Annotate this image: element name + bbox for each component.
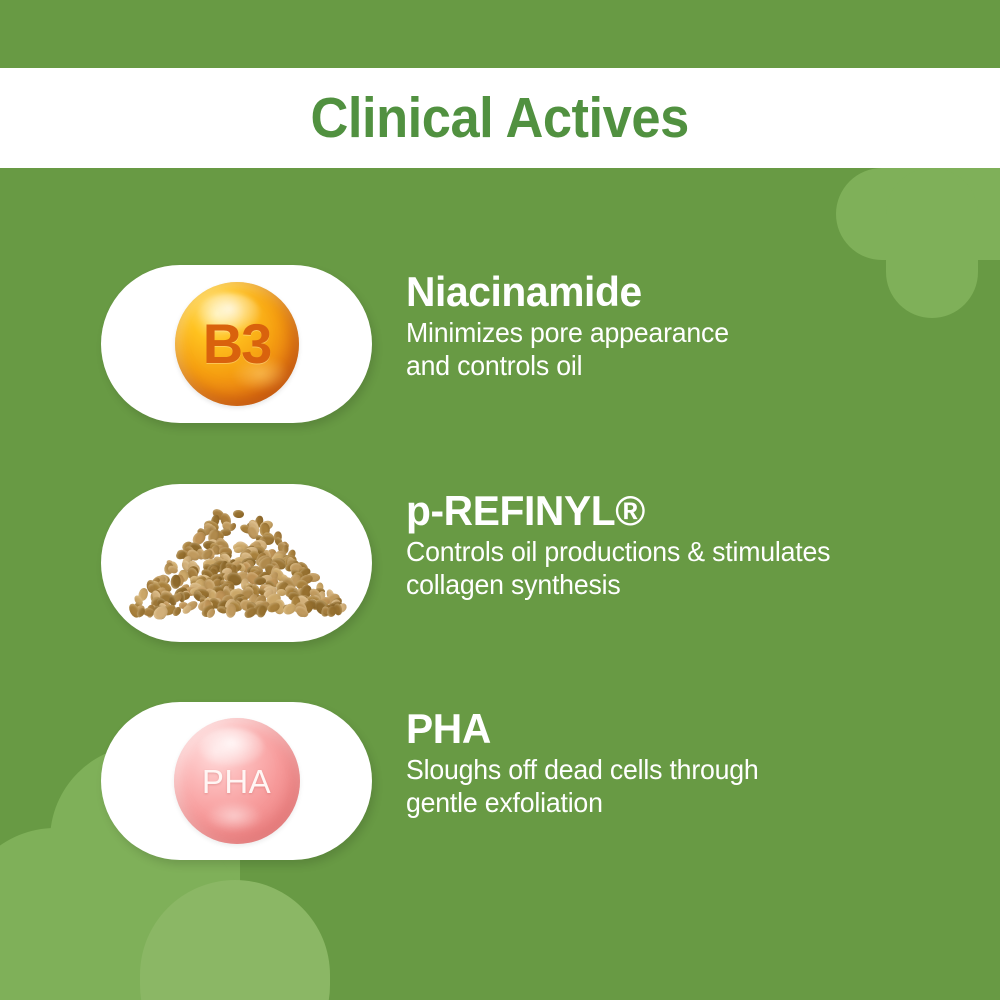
pha-sphere-icon: PHA [174, 718, 300, 844]
ingredient-description-line-1: Controls oil productions & stimulates [406, 536, 949, 568]
ingredient-row-niacinamide: B3 Niacinamide Minimizes pore appearance… [0, 265, 1000, 423]
ingredient-description-line-1: Sloughs off dead cells through [406, 754, 949, 786]
clover-shape-top-right-horizontal-icon [836, 168, 1000, 260]
ingredient-text-pha: PHA Sloughs off dead cells through gentl… [406, 706, 966, 819]
vitamin-b3-sphere-icon: B3 [175, 282, 299, 406]
clover-shape-bottom-left-lower-icon [140, 880, 330, 1000]
ingredient-description-line-2: and controls oil [406, 350, 949, 382]
pha-sphere-label: PHA [202, 765, 271, 798]
clinical-actives-infographic: Clinical Actives B3 Niacinamide Minimize… [0, 0, 1000, 1000]
ingredient-text-niacinamide: Niacinamide Minimizes pore appearance an… [406, 269, 966, 382]
header-band: Clinical Actives [0, 68, 1000, 168]
ingredient-description-line-2: gentle exfoliation [406, 787, 949, 819]
ingredient-row-p-refinyl: p-REFINYL® Controls oil productions & st… [0, 484, 1000, 642]
ingredient-description-line-2: collagen synthesis [406, 569, 949, 601]
ingredient-icon-card-niacinamide: B3 [101, 265, 372, 423]
ingredient-description-line-1: Minimizes pore appearance [406, 317, 949, 349]
ingredient-name: PHA [406, 706, 949, 751]
ingredient-name: Niacinamide [406, 269, 949, 314]
ingredient-name: p-REFINYL® [406, 488, 949, 533]
ingredient-icon-card-pha: PHA [101, 702, 372, 860]
ingredient-text-p-refinyl: p-REFINYL® Controls oil productions & st… [406, 488, 966, 601]
ingredient-row-pha: PHA PHA Sloughs off dead cells through g… [0, 702, 1000, 860]
b3-sphere-label: B3 [203, 316, 271, 372]
ingredient-icon-card-p-refinyl [101, 484, 372, 642]
page-title: Clinical Actives [311, 90, 689, 147]
lentil-seed-pile-icon [134, 513, 339, 613]
